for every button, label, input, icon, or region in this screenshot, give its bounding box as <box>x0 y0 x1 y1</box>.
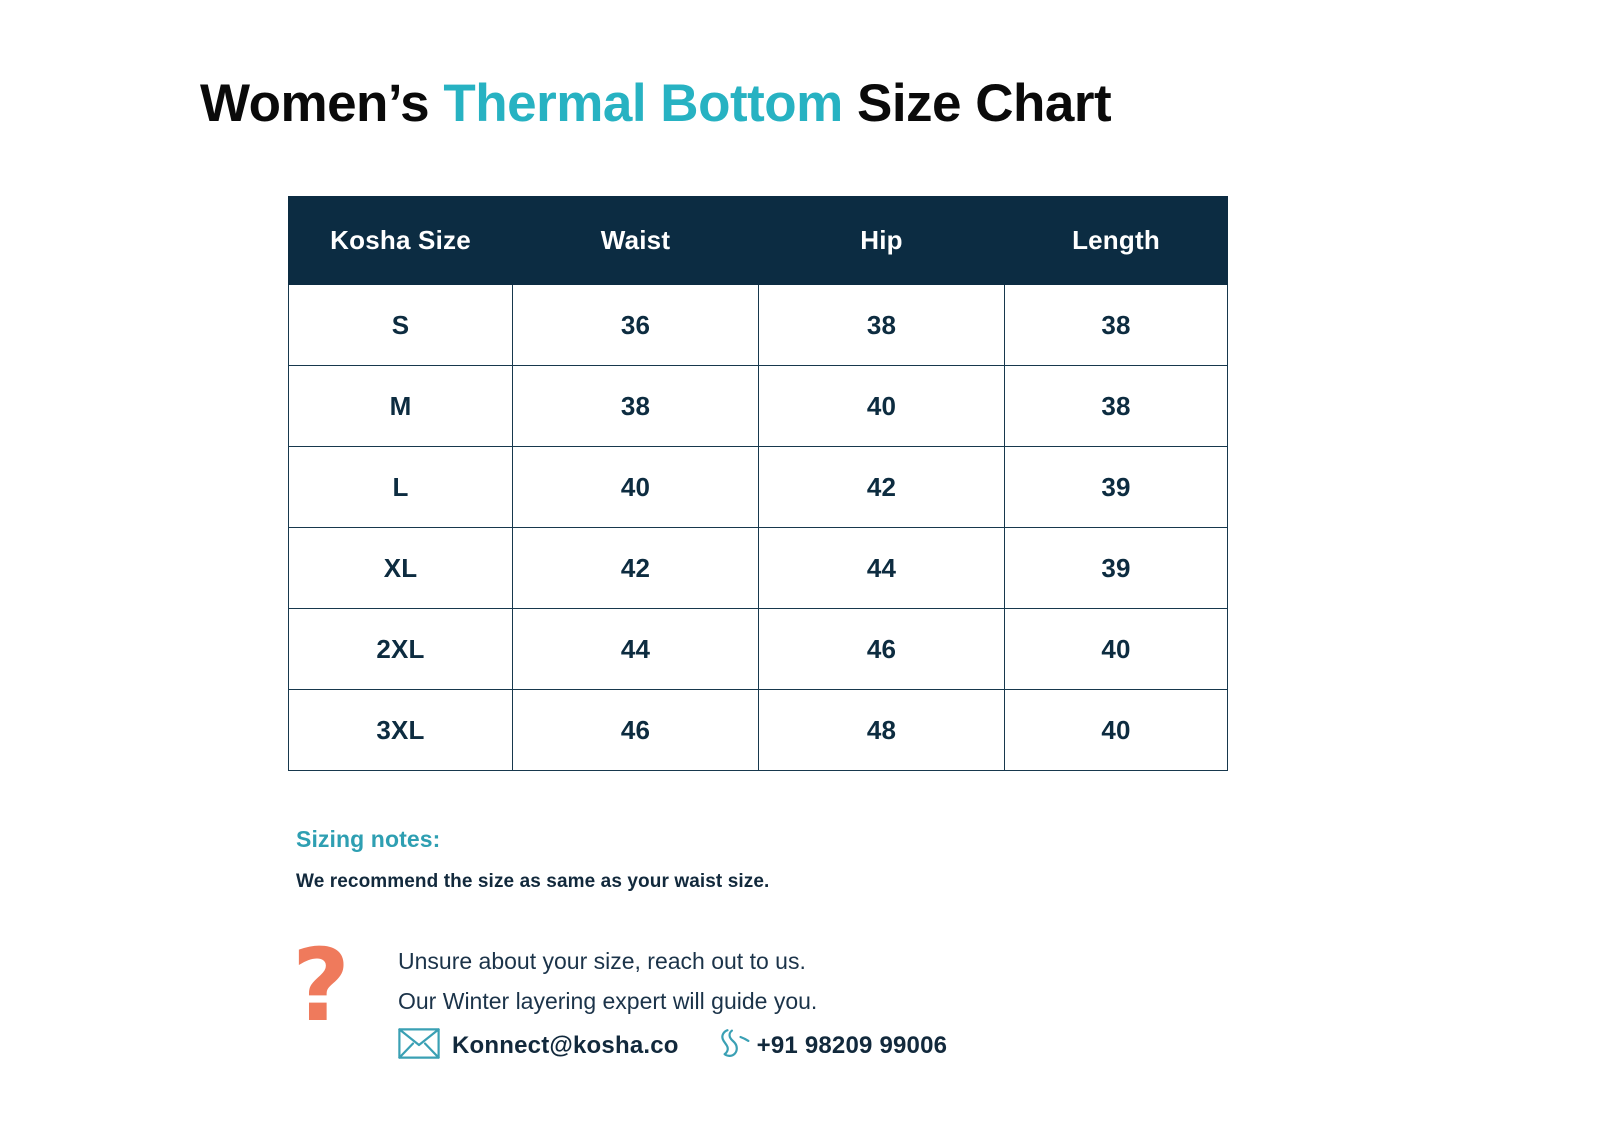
cell-size: S <box>289 285 513 366</box>
cell-hip: 40 <box>759 366 1005 447</box>
table-row: XL 42 44 39 <box>289 528 1228 609</box>
table-row: S 36 38 38 <box>289 285 1228 366</box>
table-header-row: Kosha Size Waist Hip Length <box>289 197 1228 285</box>
cell-length: 40 <box>1005 690 1228 771</box>
table-body: S 36 38 38 M 38 40 38 L 40 42 39 XL 42 4… <box>289 285 1228 771</box>
cell-waist: 38 <box>513 366 759 447</box>
table-header: Kosha Size Waist Hip Length <box>289 197 1228 285</box>
cell-hip: 46 <box>759 609 1005 690</box>
table-row: 2XL 44 46 40 <box>289 609 1228 690</box>
title-part-2: Size Chart <box>843 74 1111 133</box>
contact-row: Konnect@kosha.co +91 98209 99006 <box>398 1026 947 1065</box>
table-row: M 38 40 38 <box>289 366 1228 447</box>
cell-hip: 42 <box>759 447 1005 528</box>
email-contact[interactable]: Konnect@kosha.co <box>398 1028 679 1064</box>
column-header-kosha-size: Kosha Size <box>289 197 513 285</box>
page-title: Women’s Thermal Bottom Size Chart <box>200 72 1111 136</box>
cell-length: 39 <box>1005 447 1228 528</box>
phone-number: +91 98209 99006 <box>757 1032 948 1060</box>
help-line-2: Our Winter layering expert will guide yo… <box>398 982 817 1022</box>
cell-size: M <box>289 366 513 447</box>
envelope-icon <box>398 1028 440 1064</box>
cell-hip: 44 <box>759 528 1005 609</box>
size-chart-table: Kosha Size Waist Hip Length S 36 38 38 M… <box>288 196 1228 771</box>
email-address: Konnect@kosha.co <box>452 1032 679 1060</box>
help-line-1: Unsure about your size, reach out to us. <box>398 942 817 982</box>
cell-size: 3XL <box>289 690 513 771</box>
cell-size: XL <box>289 528 513 609</box>
cell-hip: 38 <box>759 285 1005 366</box>
column-header-hip: Hip <box>759 197 1005 285</box>
help-contact-block: ? Unsure about your size, reach out to u… <box>292 934 1192 1074</box>
cell-size: L <box>289 447 513 528</box>
cell-waist: 42 <box>513 528 759 609</box>
table-row: L 40 42 39 <box>289 447 1228 528</box>
cell-size: 2XL <box>289 609 513 690</box>
phone-contact[interactable]: +91 98209 99006 <box>713 1026 948 1065</box>
question-mark-icon: ? <box>292 936 350 1036</box>
title-accent: Thermal Bottom <box>443 74 842 133</box>
cell-length: 40 <box>1005 609 1228 690</box>
cell-length: 38 <box>1005 366 1228 447</box>
size-chart-page: Women’s Thermal Bottom Size Chart Kosha … <box>0 0 1600 1123</box>
cell-waist: 40 <box>513 447 759 528</box>
cell-hip: 48 <box>759 690 1005 771</box>
sizing-notes-body: We recommend the size as same as your wa… <box>296 871 769 893</box>
help-text: Unsure about your size, reach out to us.… <box>398 942 817 1021</box>
column-header-waist: Waist <box>513 197 759 285</box>
title-part-1: Women’s <box>200 74 443 133</box>
column-header-length: Length <box>1005 197 1228 285</box>
cell-length: 38 <box>1005 285 1228 366</box>
cell-waist: 36 <box>513 285 759 366</box>
cell-waist: 44 <box>513 609 759 690</box>
cell-length: 39 <box>1005 528 1228 609</box>
sizing-notes-heading: Sizing notes: <box>296 826 440 853</box>
cell-waist: 46 <box>513 690 759 771</box>
phone-icon <box>713 1026 751 1065</box>
table-row: 3XL 46 48 40 <box>289 690 1228 771</box>
